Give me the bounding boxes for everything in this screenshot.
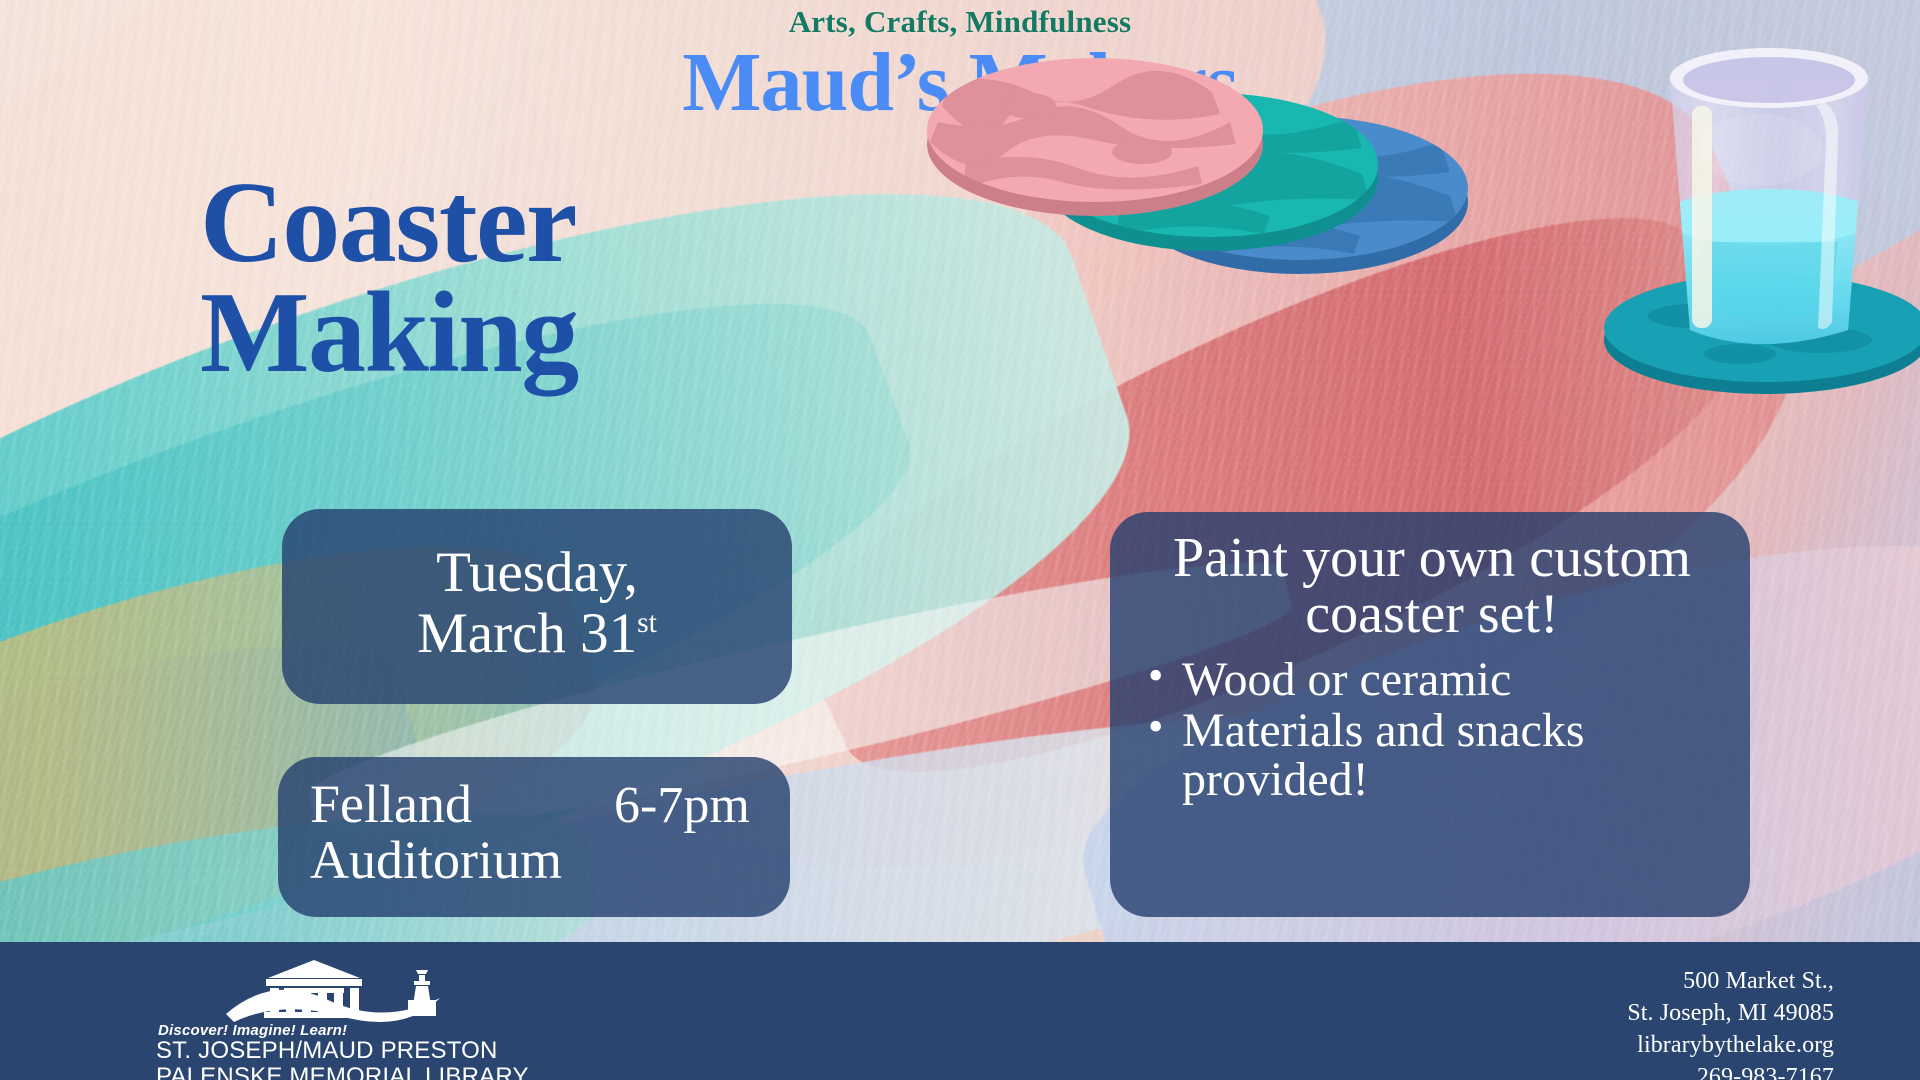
coaster-and-glass-svg xyxy=(880,10,1920,460)
venue-line-2: Auditorium xyxy=(310,833,562,889)
event-ordinal-suffix: st xyxy=(637,607,657,639)
event-venue-box: Felland Auditorium 6-7pm xyxy=(278,757,790,917)
coaster-pink xyxy=(927,58,1263,216)
title-line-2: Making xyxy=(200,278,860,388)
library-logo: Discover! Imagine! Learn! ST. JOSEPH/MAU… xyxy=(158,956,578,1074)
list-item: Wood or ceramic xyxy=(1140,656,1724,705)
venue-line-1: Felland xyxy=(310,777,562,833)
list-item: Materials and snacks provided! xyxy=(1140,707,1724,805)
coaster-illustration xyxy=(880,10,1920,460)
event-day: Tuesday, xyxy=(436,543,638,603)
title-line-1: Coaster xyxy=(200,159,576,287)
event-month-day: March 31 xyxy=(417,602,637,665)
library-logo-name: ST. JOSEPH/MAUD PRESTON PALENSKE MEMORIA… xyxy=(156,1038,529,1080)
event-time: 6-7pm xyxy=(614,779,750,834)
contact-city: St. Joseph, MI 49085 xyxy=(1627,998,1834,1030)
contact-website[interactable]: librarybythelake.org xyxy=(1627,1030,1834,1062)
event-date: March 31st xyxy=(417,604,657,664)
event-date-box: Tuesday, March 31st xyxy=(282,509,792,704)
event-description-box: Paint your own custom coaster set! Wood … xyxy=(1110,512,1750,917)
description-bullet-list: Wood or ceramic Materials and snacks pro… xyxy=(1140,656,1724,805)
contact-street: 500 Market St., xyxy=(1627,966,1834,998)
footer-bar: Discover! Imagine! Learn! ST. JOSEPH/MAU… xyxy=(0,942,1920,1080)
poster-canvas: Arts, Crafts, Mindfulness Maud’s Makers … xyxy=(0,0,1920,1080)
water-glass xyxy=(1658,48,1880,347)
contact-phone[interactable]: 269-983-7167 xyxy=(1627,1062,1834,1080)
library-name-line-1: ST. JOSEPH/MAUD PRESTON xyxy=(156,1038,529,1064)
venue-name: Felland Auditorium xyxy=(310,777,562,888)
description-heading: Paint your own custom coaster set! xyxy=(1140,530,1724,642)
library-name-line-2: PALENSKE MEMORIAL LIBRARY xyxy=(156,1064,529,1080)
page-title: Coaster Making xyxy=(200,168,860,388)
logo-mark-svg xyxy=(208,956,468,1028)
contact-info: 500 Market St., St. Joseph, MI 49085 lib… xyxy=(1627,966,1834,1080)
